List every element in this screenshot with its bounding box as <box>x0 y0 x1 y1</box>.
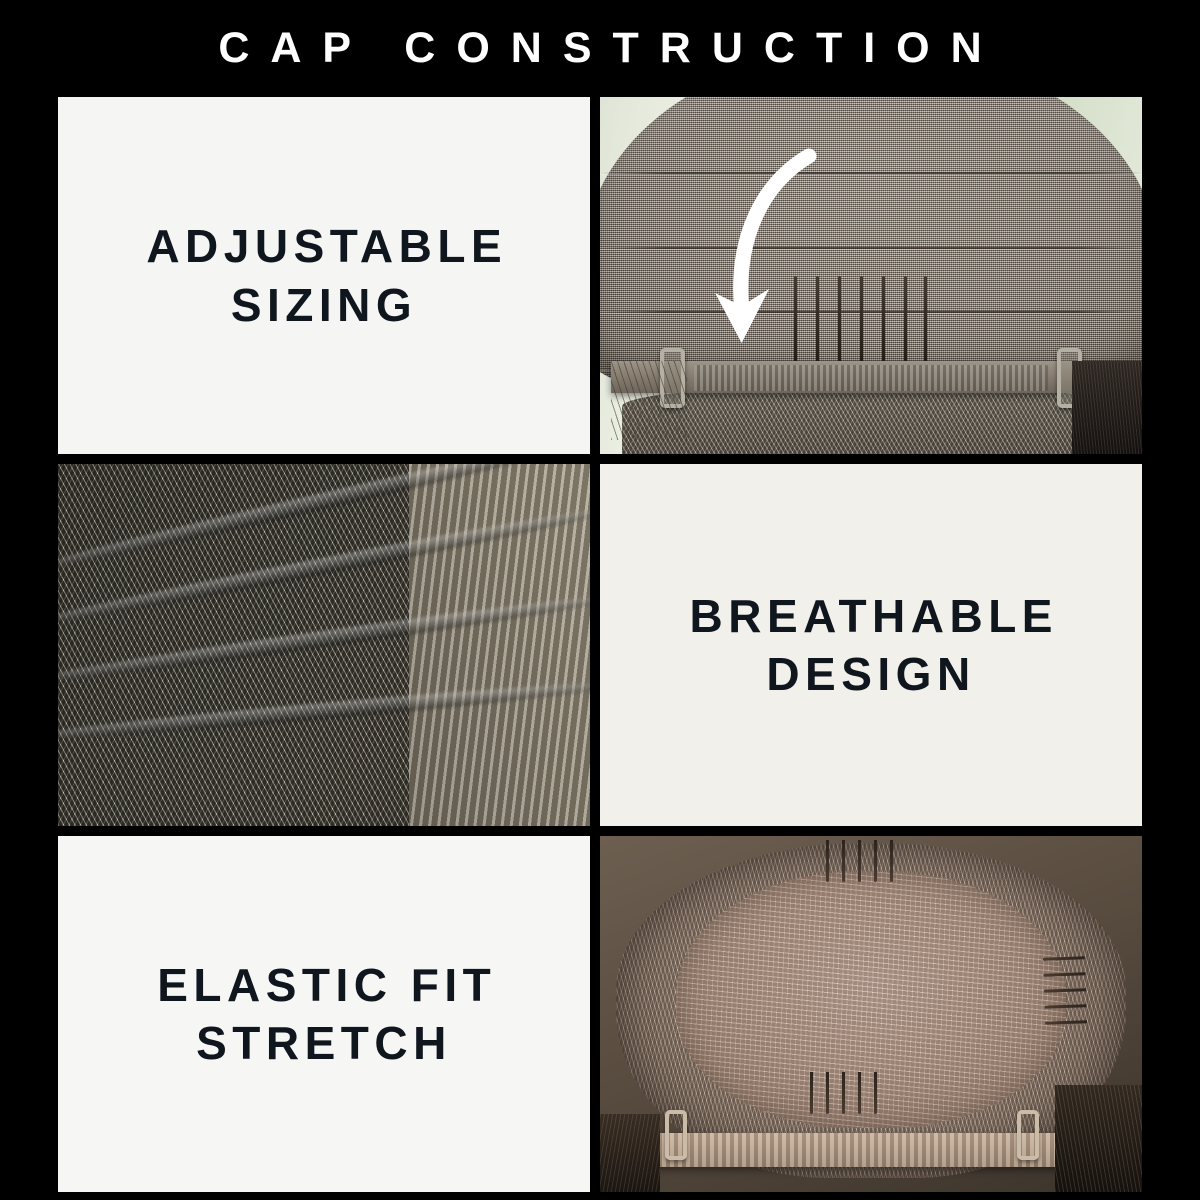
interior-comb-top <box>822 840 900 882</box>
cap-weft-row <box>600 172 1142 174</box>
mesh-macro-photo <box>58 464 590 826</box>
feature-cell-elastic-fit-stretch: ELASTIC FIT STRETCH <box>58 836 590 1192</box>
hair-wisp <box>611 361 687 440</box>
hair-strands-right <box>1072 361 1142 454</box>
page-title: CAP CONSTRUCTION <box>197 27 1002 70</box>
interior-comb-right <box>1043 953 1088 1032</box>
cap-construction-infographic: CAP CONSTRUCTION ADJUSTABLE SIZING <box>0 0 1200 1200</box>
interior-hook-left <box>665 1110 687 1160</box>
interior-comb-bottom <box>806 1072 884 1114</box>
feature-label-line1: BREATHABLE <box>690 590 1058 642</box>
interior-adjustable-band <box>622 1133 1121 1167</box>
feature-cell-adjustable-sizing: ADJUSTABLE SIZING <box>58 97 590 454</box>
interior-hair-left <box>600 1114 660 1192</box>
feature-label-line1: ADJUSTABLE <box>146 220 507 272</box>
cap-interior-photo <box>600 836 1142 1192</box>
strap-webbing <box>694 365 1048 391</box>
feature-label-adjustable-sizing: ADJUSTABLE SIZING <box>141 217 507 334</box>
cap-lower-netting <box>622 386 1121 454</box>
cap-back-photo <box>600 97 1142 454</box>
feature-cell-cap-back-photo <box>600 97 1142 454</box>
interior-hair-right <box>1055 1085 1142 1192</box>
feature-label-breathable-design: BREATHABLE DESIGN <box>684 587 1058 704</box>
feature-cell-breathable-design: BREATHABLE DESIGN <box>600 464 1142 826</box>
feature-cell-mesh-macro-photo <box>58 464 590 826</box>
feature-label-line2: STRETCH <box>196 1017 452 1069</box>
feature-grid: ADJUSTABLE SIZING <box>58 97 1142 1182</box>
cap-comb <box>790 276 930 366</box>
feature-cell-cap-interior-photo <box>600 836 1142 1192</box>
interior-hook-right <box>1017 1110 1039 1160</box>
feature-label-line1: ELASTIC FIT <box>157 959 496 1011</box>
cap-weft-row <box>600 247 1142 249</box>
feature-label-line2: SIZING <box>231 279 417 331</box>
feature-label-line2: DESIGN <box>766 648 975 700</box>
header: CAP CONSTRUCTION <box>0 0 1200 97</box>
adjustable-strap-band <box>611 361 1131 393</box>
feature-label-elastic-fit-stretch: ELASTIC FIT STRETCH <box>152 956 497 1073</box>
